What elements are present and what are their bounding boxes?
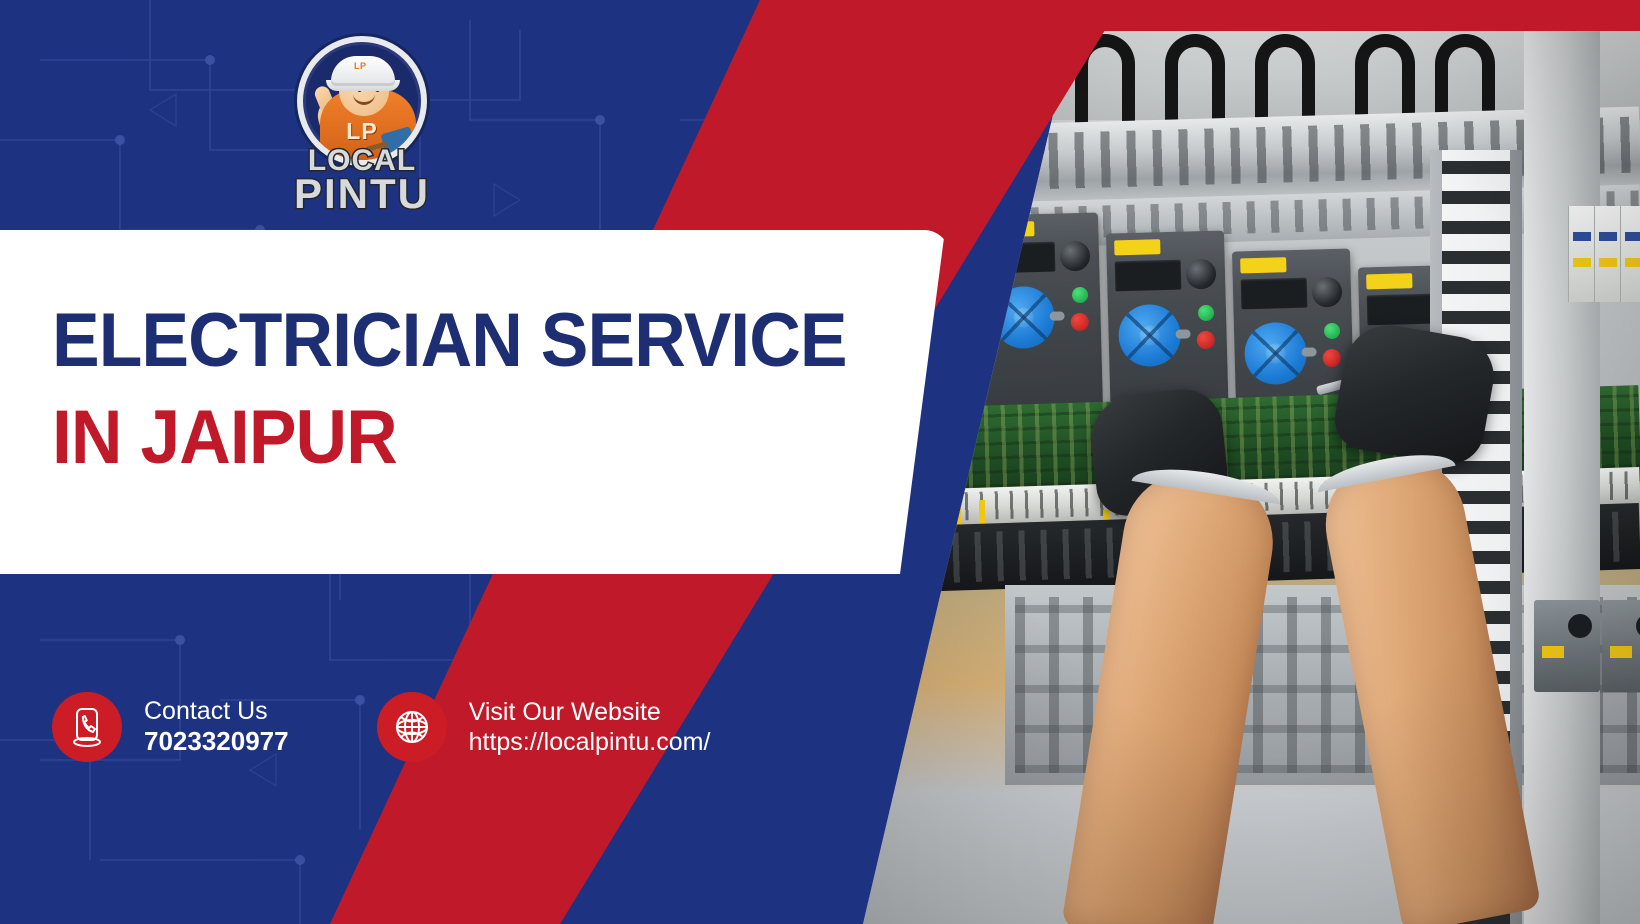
contact-phone-value[interactable]: 7023320977 [144,726,289,758]
brand-logo[interactable]: LP LOCAL PINTU [287,36,437,201]
headline-line-2: IN JAIPUR [52,389,847,486]
headline-card: ELECTRICIAN SERVICE IN JAIPUR [0,230,950,574]
contact-website-label: Visit Our Website [469,697,711,728]
contact-phone[interactable]: Contact Us 7023320977 [52,692,289,762]
mascot-helmet [331,56,395,86]
promotional-banner: LP LOCAL PINTU ELECTRICIAN SERVICE IN JA… [0,0,1640,924]
contact-row: Contact Us 7023320977 Visit Our Website … [52,692,710,762]
globe-icon-circle [377,692,447,762]
phone-icon-circle [52,692,122,762]
contact-website-value[interactable]: https://localpintu.com/ [469,727,711,758]
headline: ELECTRICIAN SERVICE IN JAIPUR [52,292,897,487]
phone-icon [69,707,105,747]
globe-icon [391,706,433,748]
contact-phone-label: Contact Us [144,696,289,727]
headline-line-1: ELECTRICIAN SERVICE [52,292,847,389]
logo-word-pintu: PINTU [287,170,437,218]
contact-website[interactable]: Visit Our Website https://localpintu.com… [377,692,711,762]
